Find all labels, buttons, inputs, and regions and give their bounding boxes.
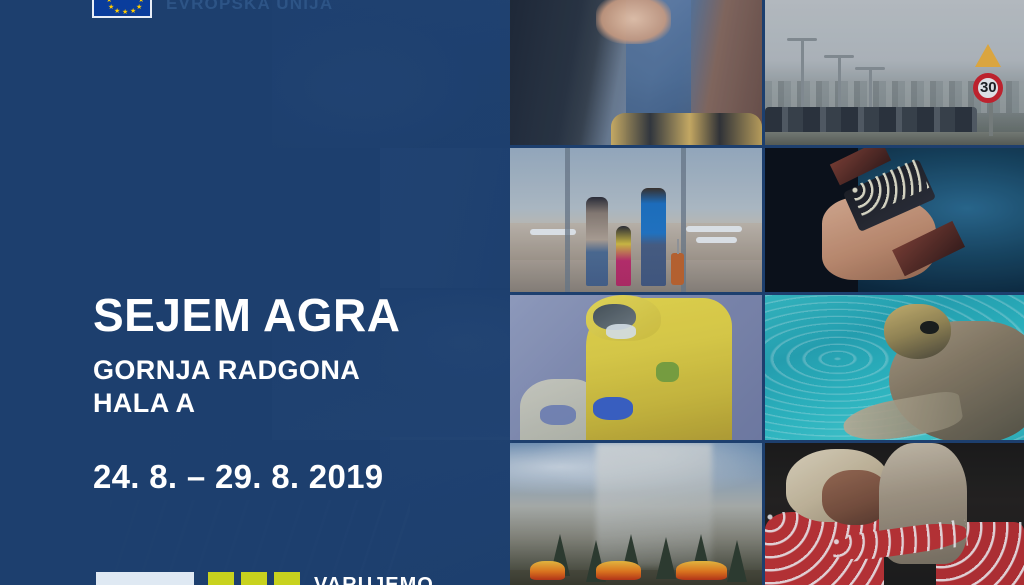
european-union-flag-icon: ★★ ★★ ★★ ★★ ★★ ★★ (92, 0, 152, 18)
event-poster: 30 (0, 0, 1024, 585)
photo-sea-turtle (765, 295, 1024, 440)
eu-emblem-label: EVROPSKA UNIJA (166, 0, 333, 14)
photo-device-in-hand (765, 148, 1024, 292)
photo-arrest (510, 0, 762, 145)
flame-shape (530, 561, 565, 581)
figure-child (616, 226, 631, 286)
suitcase-icon (671, 253, 684, 285)
photo-airport-family (510, 148, 762, 292)
eu-emblem: ★★ ★★ ★★ ★★ ★★ ★★ EVROPSKA UNIJA (92, 0, 333, 18)
event-dates: 24. 8. – 29. 8. 2019 (93, 458, 493, 496)
eu-stars: ★★ ★★ ★★ ★★ ★★ ★★ (94, 0, 150, 16)
turtle-head (884, 304, 951, 359)
photo-embrace (765, 443, 1024, 585)
location-line-1: GORNJA RADGONA (93, 354, 493, 387)
photo-smog-traffic: 30 (765, 0, 1024, 145)
boots-detail (611, 113, 762, 145)
photo-forest-fire (510, 443, 762, 585)
airplane-shape (686, 226, 741, 232)
pine-tree (727, 540, 747, 582)
street-lamp-icon (801, 38, 804, 113)
blue-glove (540, 405, 575, 425)
blue-glove (593, 397, 633, 420)
location-line-2: HALA A (93, 387, 493, 420)
event-title: SEJEM AGRA (93, 292, 493, 338)
airplane-shape (696, 237, 736, 243)
turtle-eye (920, 321, 938, 334)
photo-hazmat-worker (510, 295, 762, 440)
flame-shape (676, 561, 726, 581)
flame-shape (596, 561, 641, 581)
photo-grid: 30 (510, 0, 1024, 585)
pine-tree (656, 537, 676, 579)
figure-adult-woman (586, 197, 609, 286)
partner-logo-box (96, 572, 194, 585)
partner-logo-word: VARUJEMO (314, 572, 434, 585)
speed-limit-sign: 30 (973, 73, 1003, 103)
window-mullion (565, 148, 570, 292)
partner-logo-strip: VARUJEMO (96, 572, 434, 585)
respirator-mask-icon (606, 324, 636, 339)
roadway (765, 132, 1024, 145)
warning-sign-icon (975, 44, 1001, 67)
headline-block: SEJEM AGRA GORNJA RADGONA HALA A 24. 8. … (93, 292, 493, 496)
figure-adult-man (641, 188, 666, 286)
suit-badge (656, 362, 679, 382)
logo-bars-icon (208, 572, 300, 585)
